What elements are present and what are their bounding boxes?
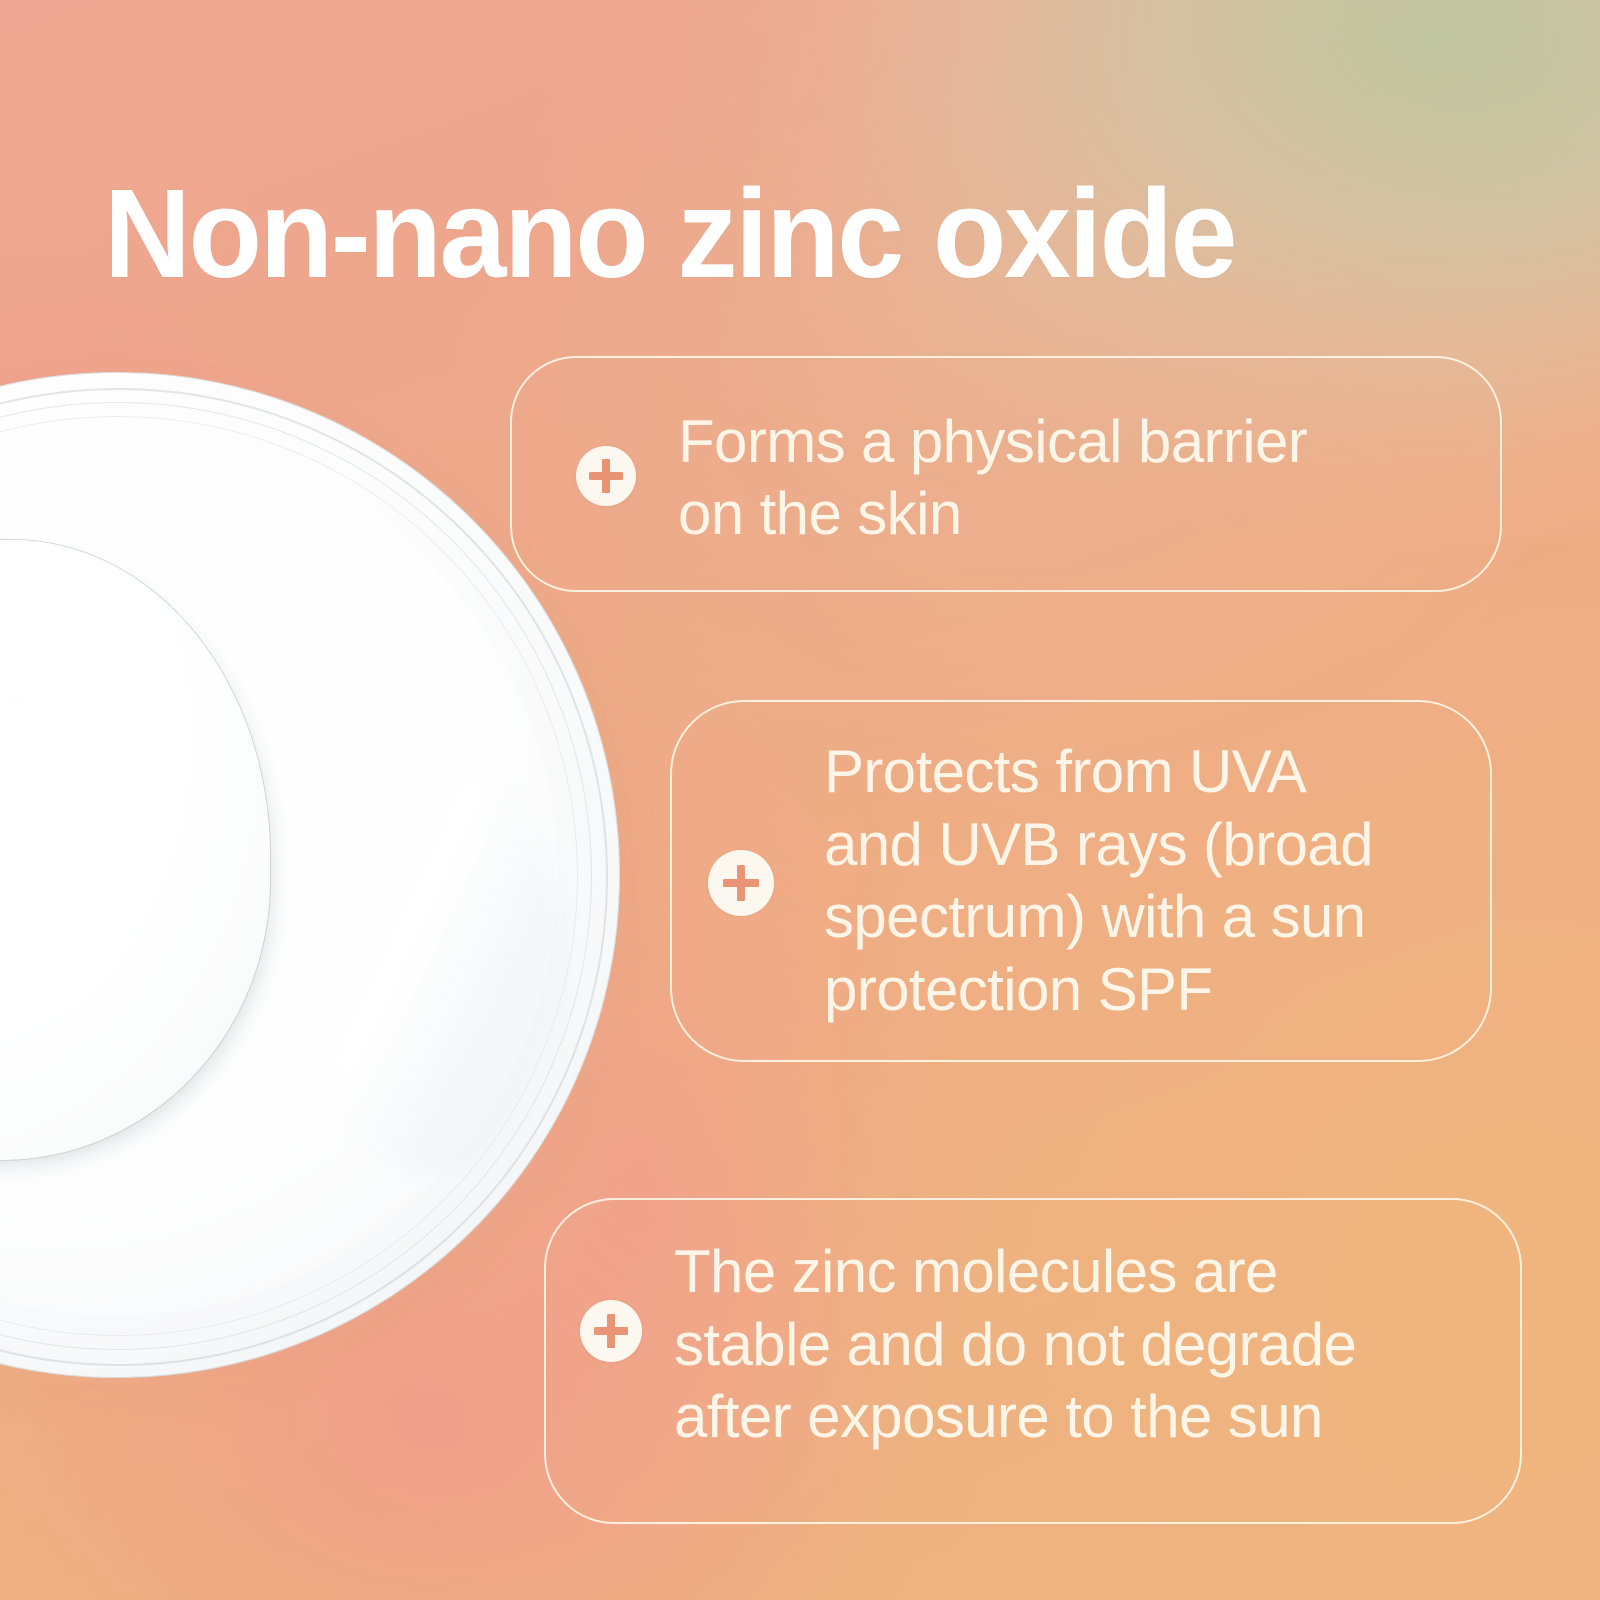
feature-card-text: The zinc molecules are stable and do not… bbox=[674, 1236, 1504, 1454]
feature-card: The zinc molecules are stable and do not… bbox=[544, 1198, 1522, 1524]
plus-icon bbox=[708, 850, 774, 916]
page-title: Non-nano zinc oxide bbox=[104, 168, 1235, 300]
feature-card-text: Protects from UVA and UVB rays (broad sp… bbox=[824, 736, 1474, 1026]
feature-card: Protects from UVA and UVB rays (broad sp… bbox=[670, 700, 1492, 1062]
plus-icon bbox=[580, 1300, 642, 1362]
dish-specular-highlight bbox=[304, 752, 564, 1172]
feature-card-text: Forms a physical barrier on the skin bbox=[678, 406, 1468, 550]
plus-icon-vertical-bar bbox=[602, 459, 610, 493]
plus-icon-vertical-bar bbox=[737, 865, 746, 902]
plus-icon bbox=[576, 446, 636, 506]
infographic-canvas: Non-nano zinc oxide Forms a physical bar… bbox=[0, 0, 1600, 1600]
plus-icon-vertical-bar bbox=[607, 1314, 615, 1349]
feature-card: Forms a physical barrier on the skin bbox=[510, 356, 1502, 592]
